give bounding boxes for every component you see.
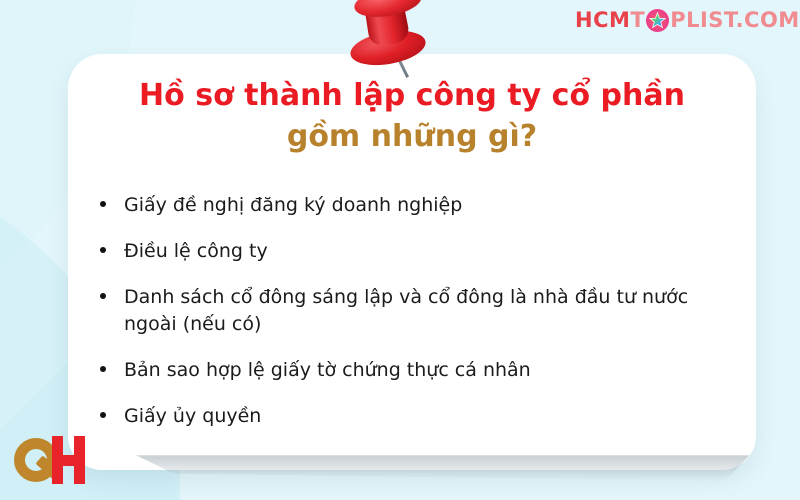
list-item: Bản sao hợp lệ giấy tờ chứng thực cá nhâ… xyxy=(96,357,736,384)
star-glyph-svg xyxy=(649,12,666,29)
logo-text-hcm: HCM xyxy=(575,8,630,32)
page-title: Hồ sơ thành lập công ty cổ phần gồm nhữn… xyxy=(88,78,736,155)
title-line-2: gồm những gì? xyxy=(88,119,736,156)
card-shadow-curl xyxy=(110,455,750,481)
list-item: Điều lệ công ty xyxy=(96,238,736,265)
list-item: Giấy đề nghị đăng ký doanh nghiệp xyxy=(96,192,736,219)
slide-canvas: HCM T PLIST.COM xyxy=(0,0,800,500)
logo-text-plist: PLIST.COM xyxy=(670,8,800,32)
logo-text-t: T xyxy=(630,8,645,32)
hcmtoplist-logo[interactable]: HCM T PLIST.COM xyxy=(575,8,800,32)
title-line-1: Hồ sơ thành lập công ty cổ phần xyxy=(88,78,736,115)
list-item-label: Giấy ủy quyền xyxy=(124,405,261,427)
bullet-icon xyxy=(100,247,106,253)
list-item-label: Giấy đề nghị đăng ký doanh nghiệp xyxy=(124,194,462,216)
monogram-h-stem-right xyxy=(74,436,85,484)
qh-monogram xyxy=(12,432,104,490)
requirements-list: Giấy đề nghị đăng ký doanh nghiệp Điều l… xyxy=(96,192,736,449)
list-item-label: Danh sách cổ đông sáng lập và cổ đông là… xyxy=(124,286,688,335)
list-item: Giấy ủy quyền xyxy=(96,403,736,430)
star-icon xyxy=(646,9,669,32)
list-item-label: Điều lệ công ty xyxy=(124,240,268,262)
bullet-icon xyxy=(100,201,106,207)
bullet-icon xyxy=(100,366,106,372)
bullet-icon xyxy=(100,293,106,299)
bullet-icon xyxy=(100,412,106,418)
list-item: Danh sách cổ đông sáng lập và cổ đông là… xyxy=(96,284,736,338)
list-item-label: Bản sao hợp lệ giấy tờ chứng thực cá nhâ… xyxy=(124,359,531,381)
